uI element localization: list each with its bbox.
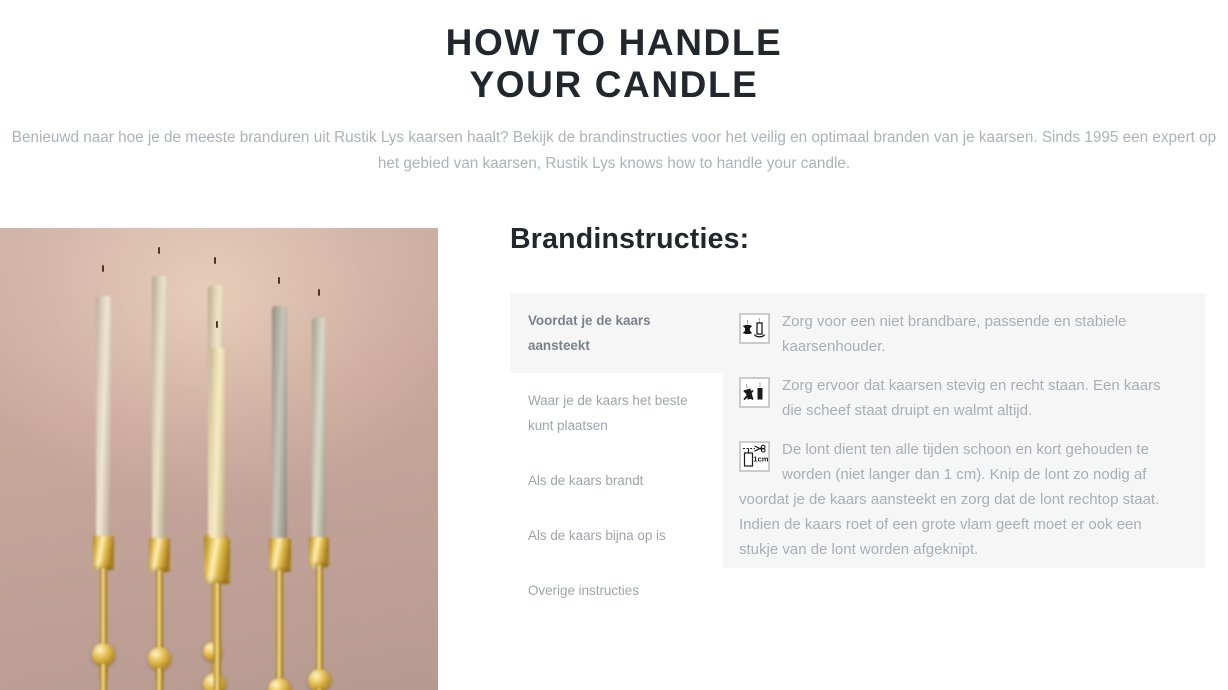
hero-section: HOW TO HANDLE YOUR CANDLE Benieuwd naar … [0,0,1228,177]
tab-panel-voordat-je-de-kaars-aansteekt: Zorg voor een niet brandbare, passende e… [723,293,1205,568]
tab-als-de-kaars-brandt[interactable]: Als de kaars brandt [510,453,723,508]
brass-stem-1b [100,664,107,690]
tab-overige-instructies[interactable]: Overige instructies [510,563,723,618]
wick-3 [214,257,216,264]
candle-6 [312,291,326,568]
brass-stem-6 [316,565,323,675]
wick-1 [102,265,104,272]
candle-4 [210,323,225,568]
candle-1 [96,268,111,568]
trim-wick-scissors-pictogram-icon: 1cm [739,441,770,472]
wick-length-label: 1cm [753,455,768,464]
brass-cup-2 [149,538,170,572]
instruction-text: De lont dient ten alle tijden schoon en … [739,441,1159,558]
instructions-section: Brandinstructies: [510,222,1210,256]
lit-taper-candles-in-brass-holders-photo [0,228,438,690]
brandinstructies-tab-widget: Voordat je de kaars aansteekt Waar je de… [510,293,1205,568]
brass-stem-5 [276,570,283,680]
hero-subtitle: Benieuwd naar hoe je de meeste branduren… [11,125,1217,177]
wick-2 [158,247,160,254]
section-title: Brandinstructies: [510,222,1210,256]
brass-ball-6 [308,669,331,690]
candle-body-6 [312,318,326,568]
instruction-item: Zorg voor een niet brandbare, passende e… [739,309,1183,359]
candle-body-1 [96,296,111,568]
tab-waar-je-de-kaars-het-beste-kunt-plaatsen[interactable]: Waar je de kaars het beste kunt plaatsen [510,373,723,453]
tab-list: Voordat je de kaars aansteekt Waar je de… [510,293,723,568]
brass-ball-2 [148,647,171,670]
straight-candle-pictogram-icon [739,377,770,408]
candle-body-5 [272,306,287,568]
instruction-item: 1cm De lont dient ten alle tijden schoon… [739,437,1183,562]
page-root: HOW TO HANDLE YOUR CANDLE Benieuwd naar … [0,0,1228,690]
page-title: HOW TO HANDLE YOUR CANDLE [0,22,1228,106]
candle-body-4 [210,348,225,568]
brass-ball-1 [92,643,115,666]
instruction-text: Zorg ervoor dat kaarsen stevig en recht … [782,377,1161,419]
brass-cup-4 [205,538,230,584]
candle-body-2 [152,276,167,568]
brass-ball-5 [268,678,291,690]
instruction-text: Zorg voor een niet brandbare, passende e… [782,313,1126,355]
candle-5 [272,280,287,568]
instruction-item: Zorg ervoor dat kaarsen stevig en recht … [739,373,1183,423]
wick-4 [216,321,218,328]
brass-cup-6 [309,537,329,567]
candle-2 [152,250,167,568]
brass-cup-5 [269,538,291,572]
brass-stem-4 [214,583,221,690]
wick-5 [278,277,280,284]
candle-holder-pictogram-icon [739,313,770,344]
tab-voordat-je-de-kaars-aansteekt[interactable]: Voordat je de kaars aansteekt [510,293,723,373]
brass-cup-1 [93,536,114,570]
brass-stem-2b [156,668,163,690]
tab-als-de-kaars-bijna-op-is[interactable]: Als de kaars bijna op is [510,508,723,563]
wick-6 [318,289,320,296]
